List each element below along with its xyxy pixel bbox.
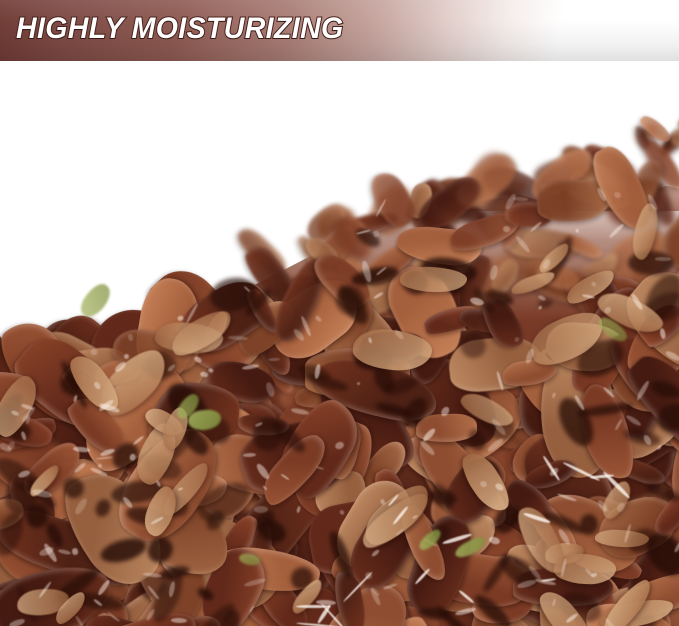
bark-chip-layer	[0, 61, 679, 626]
chip-highlight	[655, 257, 671, 261]
chip-highlight	[608, 223, 624, 239]
chip-highlight	[254, 506, 268, 513]
product-feature-panel: HIGHLY MOISTURIZING The reptile substrat…	[0, 0, 679, 626]
product-photo	[0, 61, 679, 626]
header-banner: HIGHLY MOISTURIZING	[0, 0, 679, 61]
chip-highlight	[171, 618, 188, 623]
page-title: HIGHLY MOISTURIZING	[16, 13, 344, 45]
chip-highlight	[574, 229, 579, 234]
